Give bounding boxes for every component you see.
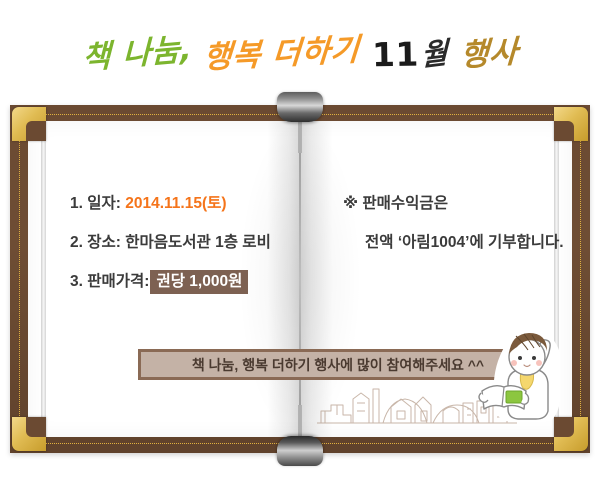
detail-number-3: 3. [70,273,83,290]
book-pages: 1. 일자: 2014.11.15(토) 2. 장소: 한마음도서관 1층 로비… [28,121,572,437]
book-spine-line [299,121,301,437]
detail-value-date: 2014.11.15 [125,195,202,212]
open-book-graphic: 1. 일자: 2014.11.15(토) 2. 장소: 한마음도서관 1층 로비… [10,105,590,453]
title-segment-month-unit: 월 [421,38,448,71]
page-edge-right [554,135,559,423]
banner-text: 책 나눔, 행복 더하기 행사에 많이 참여해주세요 ^^ [192,355,484,375]
title-segment-event: 행사 [459,36,519,71]
detail-row-location: 2. 장소: 한마음도서관 1층 로비 [70,230,271,252]
title-segment-add-happiness: 행복 더하기 [202,34,360,73]
spine-clip-top [277,92,323,122]
detail-row-price: 3. 판매가격:권당 1,000원 [70,269,248,291]
detail-label-price: 판매가격: [87,273,149,290]
call-to-action-banner: 책 나눔, 행복 더하기 행사에 많이 참여해주세요 ^^ [138,349,538,380]
detail-label-location: 장소: [87,234,121,251]
page-title: 책 나눔, 행복 더하기 11 월 행사 [0,18,600,90]
corner-bracket-bottom-left [12,417,46,451]
page-edge-left [41,135,46,423]
spine-clip-bottom [277,436,323,466]
title-segment-month-number: 11 [372,37,420,71]
price-highlight-badge: 권당 1,000원 [150,270,248,294]
note-row-first: ※ 판매수익금은 [343,191,448,213]
poster-canvas: 책 나눔, 행복 더하기 11 월 행사 1. 일자: 2014.11.15(토… [0,0,600,500]
note-row-second: 전액 ‘아림1004’에 기부합니다. [343,230,564,252]
detail-value-date-weekday: (토) [202,195,227,212]
detail-number-1: 1. [70,195,83,212]
detail-label-date: 일자: [87,195,121,212]
corner-bracket-top-left [12,107,46,141]
note-line-2: 전액 ‘아림1004’에 기부합니다. [365,234,564,251]
detail-number-2: 2. [70,234,83,251]
detail-value-location: 한마음도서관 1층 로비 [125,234,271,251]
corner-bracket-top-right [554,107,588,141]
reference-mark-icon: ※ [343,195,358,212]
corner-bracket-bottom-right [554,417,588,451]
title-segment-book-sharing: 책 나눔, [82,34,193,75]
detail-row-date: 1. 일자: 2014.11.15(토) [70,191,227,213]
note-line-1: 판매수익금은 [362,195,448,212]
